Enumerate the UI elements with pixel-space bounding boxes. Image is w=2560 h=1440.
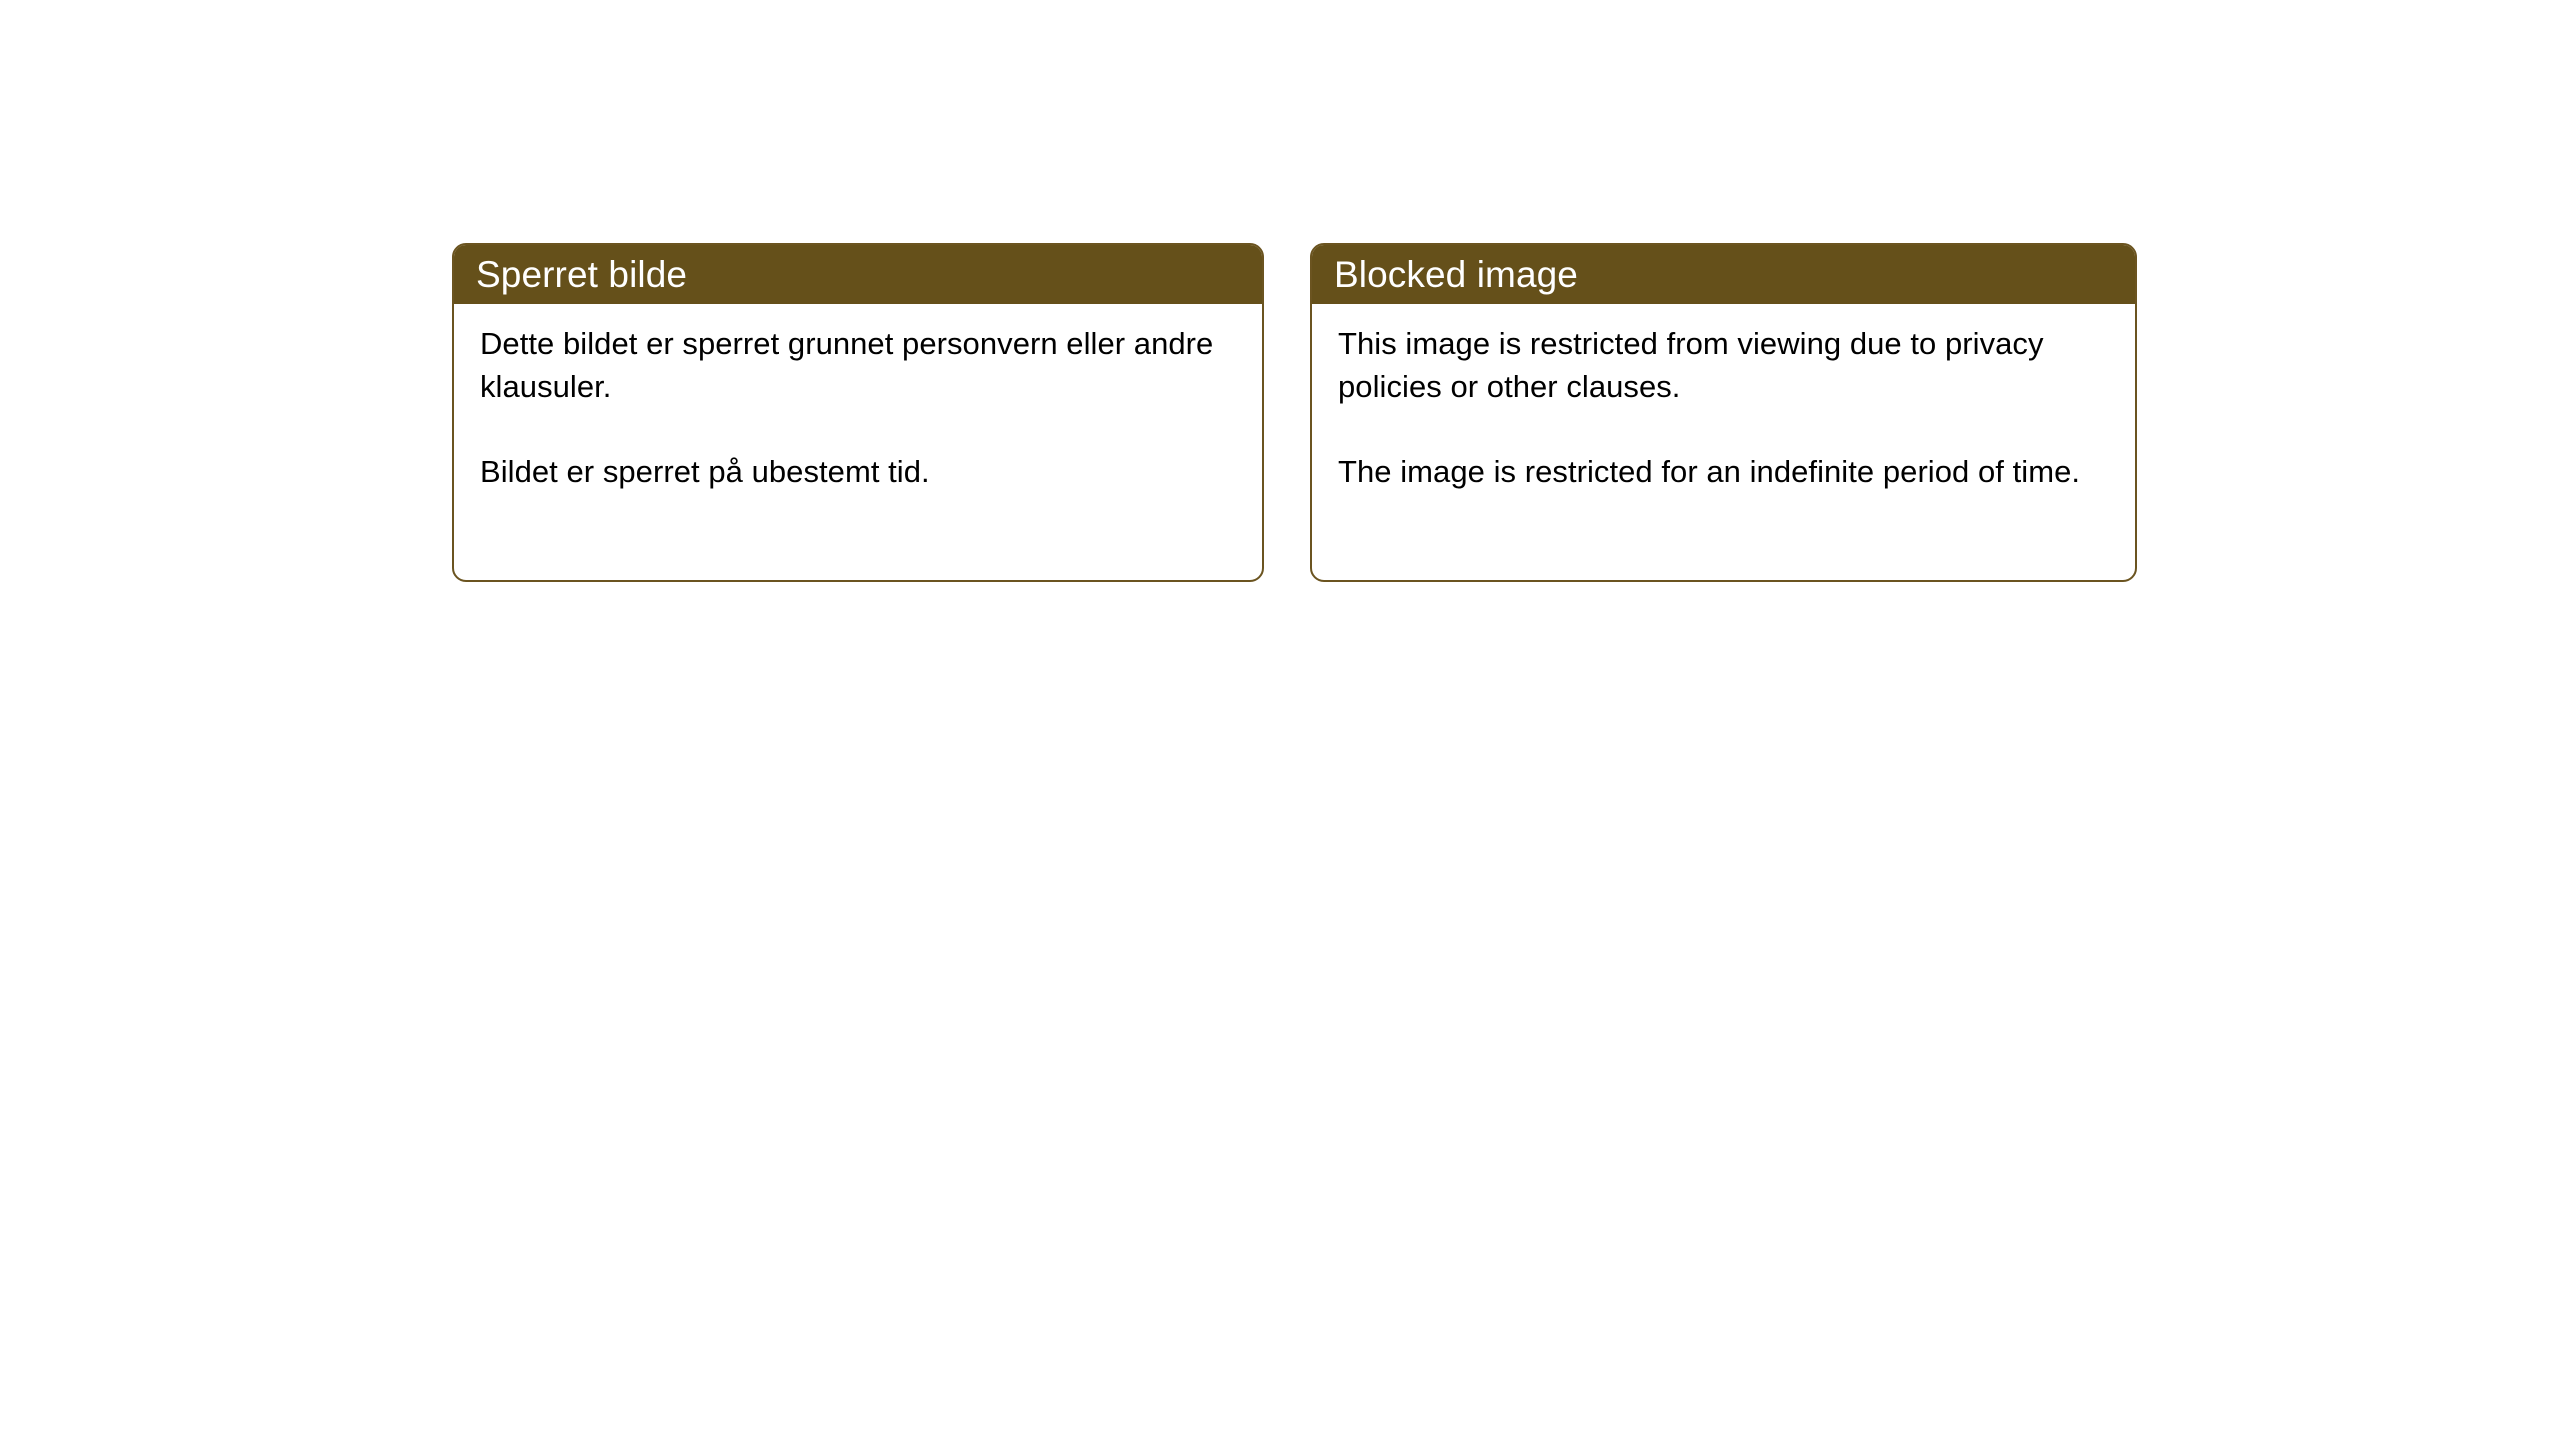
blocked-image-notice-area: Sperret bilde Dette bildet er sperret gr…: [0, 0, 2560, 1440]
card-body-english: This image is restricted from viewing du…: [1312, 304, 2135, 493]
card-title-norwegian: Sperret bilde: [476, 256, 687, 293]
card-paragraph-duration-english: The image is restricted for an indefinit…: [1338, 450, 2108, 493]
card-header-norwegian: Sperret bilde: [453, 244, 1263, 304]
card-header-english: Blocked image: [1311, 244, 2136, 304]
blocked-image-card-norwegian: Sperret bilde Dette bildet er sperret gr…: [452, 243, 1264, 582]
card-paragraph-reason-english: This image is restricted from viewing du…: [1338, 322, 2108, 408]
card-paragraph-reason-norwegian: Dette bildet er sperret grunnet personve…: [480, 322, 1220, 408]
card-title-english: Blocked image: [1334, 256, 1578, 293]
card-paragraph-duration-norwegian: Bildet er sperret på ubestemt tid.: [480, 450, 1220, 493]
blocked-image-card-english: Blocked image This image is restricted f…: [1310, 243, 2137, 582]
card-body-norwegian: Dette bildet er sperret grunnet personve…: [454, 304, 1262, 493]
